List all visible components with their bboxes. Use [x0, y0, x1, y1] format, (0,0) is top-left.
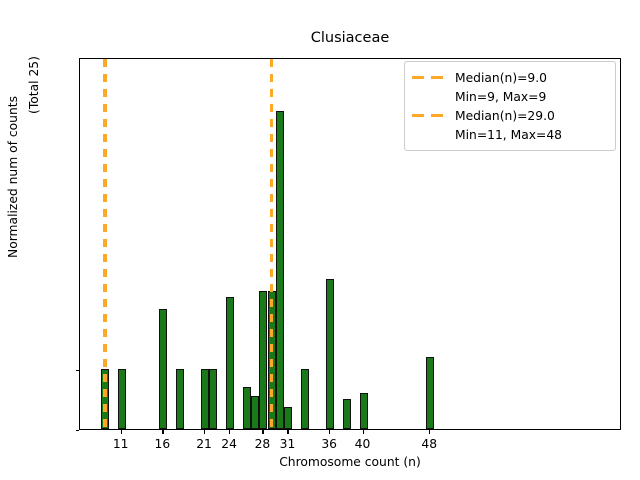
bar — [243, 387, 251, 429]
bar — [251, 396, 259, 429]
legend-dash-swatch — [412, 73, 446, 83]
bar — [284, 407, 292, 429]
bar — [201, 369, 209, 429]
legend-dash-spacer — [412, 92, 446, 102]
x-tick-mark — [262, 430, 263, 434]
x-tick-mark — [121, 430, 122, 434]
x-tick-mark — [287, 430, 288, 434]
x-tick-label: 16 — [142, 437, 182, 451]
x-tick-mark — [229, 430, 230, 434]
bar — [118, 369, 126, 429]
legend-item-sublabel: Min=11, Max=48 — [455, 128, 562, 142]
x-tick-label: 31 — [267, 437, 307, 451]
legend-item: Median(n)=29.0 — [412, 106, 607, 125]
x-axis-label: Chromosome count (n) — [79, 455, 621, 469]
x-tick-label: 48 — [409, 437, 449, 451]
legend-item-sublabel: Min=9, Max=9 — [455, 90, 546, 104]
x-tick-mark — [363, 430, 364, 434]
bar — [326, 279, 334, 429]
bar — [209, 369, 217, 429]
bar — [159, 309, 167, 429]
x-tick-label: 11 — [101, 437, 141, 451]
figure-canvas: Clusiaceae Normalized num of counts (Tot… — [0, 0, 640, 480]
bar — [426, 357, 434, 429]
y-axis-total-label: (Total 25) — [27, 25, 41, 145]
page-title: Clusiaceae — [79, 30, 621, 46]
y-tick-mark — [76, 430, 80, 431]
legend-item: Median(n)=9.0 — [412, 68, 607, 87]
legend: Median(n)=9.0Min=9, Max=9Median(n)=29.0M… — [404, 61, 616, 151]
bar — [360, 393, 368, 429]
legend-dash-spacer — [412, 130, 446, 140]
x-tick-mark — [204, 430, 205, 434]
legend-dash-swatch — [412, 111, 446, 121]
legend-item-sub: Min=9, Max=9 — [412, 87, 607, 106]
legend-item-sub: Min=11, Max=48 — [412, 125, 607, 144]
bar — [226, 297, 234, 429]
bar — [343, 399, 351, 429]
y-axis-label: Normalized num of counts — [6, 12, 20, 342]
x-tick-label: 40 — [343, 437, 383, 451]
bar — [301, 369, 309, 429]
x-tick-mark — [429, 430, 430, 434]
y-tick-mark — [76, 370, 80, 371]
median-line — [103, 59, 106, 429]
bar — [259, 291, 267, 429]
legend-item-label: Median(n)=29.0 — [455, 109, 555, 123]
x-tick-mark — [329, 430, 330, 434]
bar — [276, 111, 284, 429]
x-tick-mark — [162, 430, 163, 434]
legend-item-label: Median(n)=9.0 — [455, 71, 547, 85]
bar — [176, 369, 184, 429]
median-line — [270, 59, 273, 429]
